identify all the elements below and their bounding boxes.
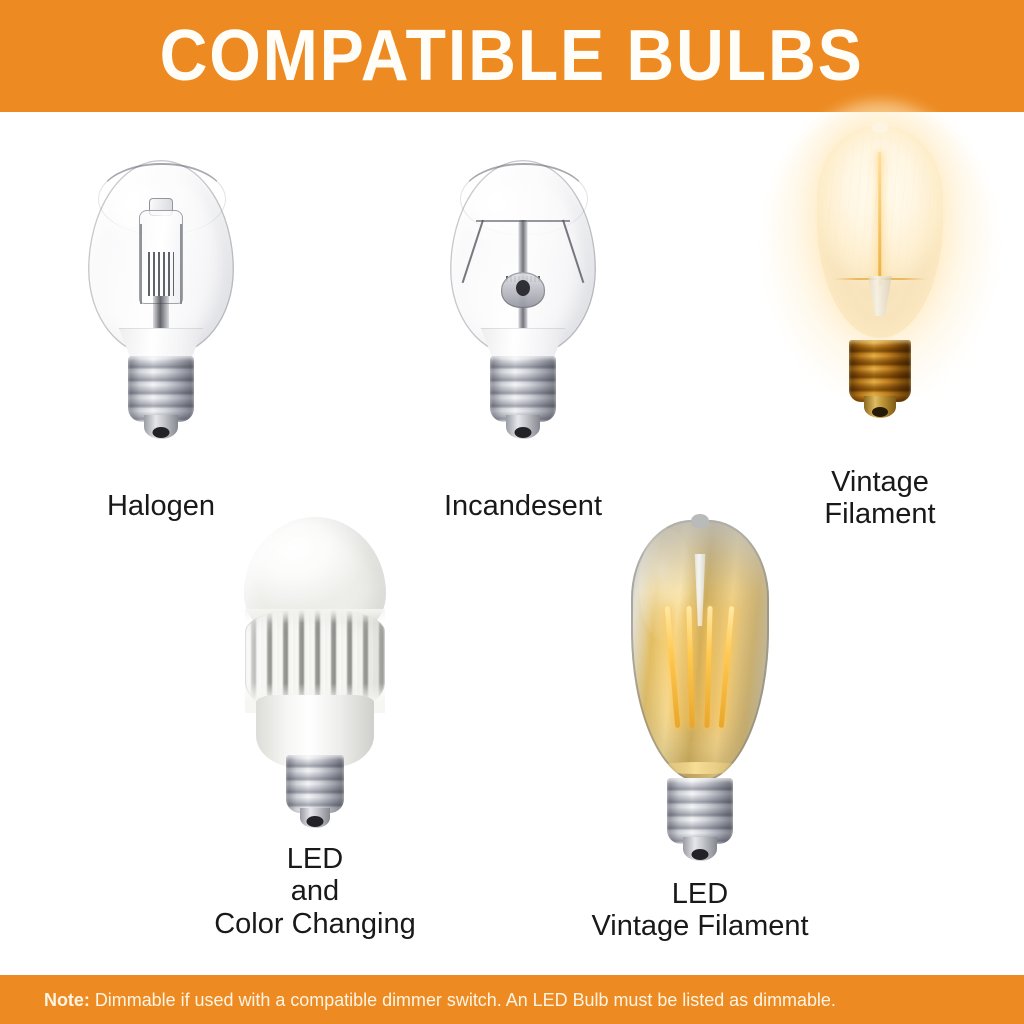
footer-note: Note: Dimmable if used with a compatible…	[44, 989, 836, 1011]
bulb-card-led-vintage-filament[interactable]: LED Vintage Filament	[570, 520, 830, 943]
footer-note-bar: Note: Dimmable if used with a compatible…	[0, 975, 1024, 1024]
bulb-label-line: Vintage Filament	[570, 910, 830, 942]
halogen-bulb-icon	[81, 160, 241, 456]
screw-base	[849, 340, 911, 402]
screw-base	[286, 755, 344, 813]
bulb-gallery: Halogen Incandesent	[0, 112, 1024, 975]
screw-base	[667, 778, 733, 844]
bulb-label-line: Vintage	[760, 466, 1000, 498]
led-bulb-icon	[240, 517, 390, 817]
page-title: COMPATIBLE BULBS	[160, 20, 864, 92]
screw-base	[490, 356, 556, 422]
bulb-card-vintage-filament[interactable]: Vintage Filament	[760, 126, 1000, 531]
bulb-card-incandesent[interactable]: Incandesent	[398, 160, 648, 522]
bulb-label-incandesent: Incandesent	[398, 490, 648, 522]
screw-base	[128, 356, 194, 422]
bulb-card-halogen[interactable]: Halogen	[36, 160, 286, 522]
vintage-filament-bulb-icon	[800, 126, 960, 426]
bulb-card-led-color-changing[interactable]: LED and Color Changing	[205, 517, 425, 940]
bulb-label-line: Color Changing	[205, 908, 425, 940]
footer-note-label: Note:	[44, 989, 90, 1010]
bulb-label-led-vintage-filament: LED Vintage Filament	[570, 878, 830, 943]
bulb-label-line: and	[205, 875, 425, 907]
incandescent-bulb-icon	[443, 160, 603, 456]
bulb-label-led-color-changing: LED and Color Changing	[205, 843, 425, 940]
bulb-label-line: Incandesent	[398, 490, 648, 522]
bulb-label-line: LED	[205, 843, 425, 875]
bulb-label-line: LED	[570, 878, 830, 910]
header-bar: COMPATIBLE BULBS	[0, 0, 1024, 112]
footer-note-text: Dimmable if used with a compatible dimme…	[90, 989, 836, 1010]
led-vintage-filament-bulb-icon	[620, 520, 780, 850]
